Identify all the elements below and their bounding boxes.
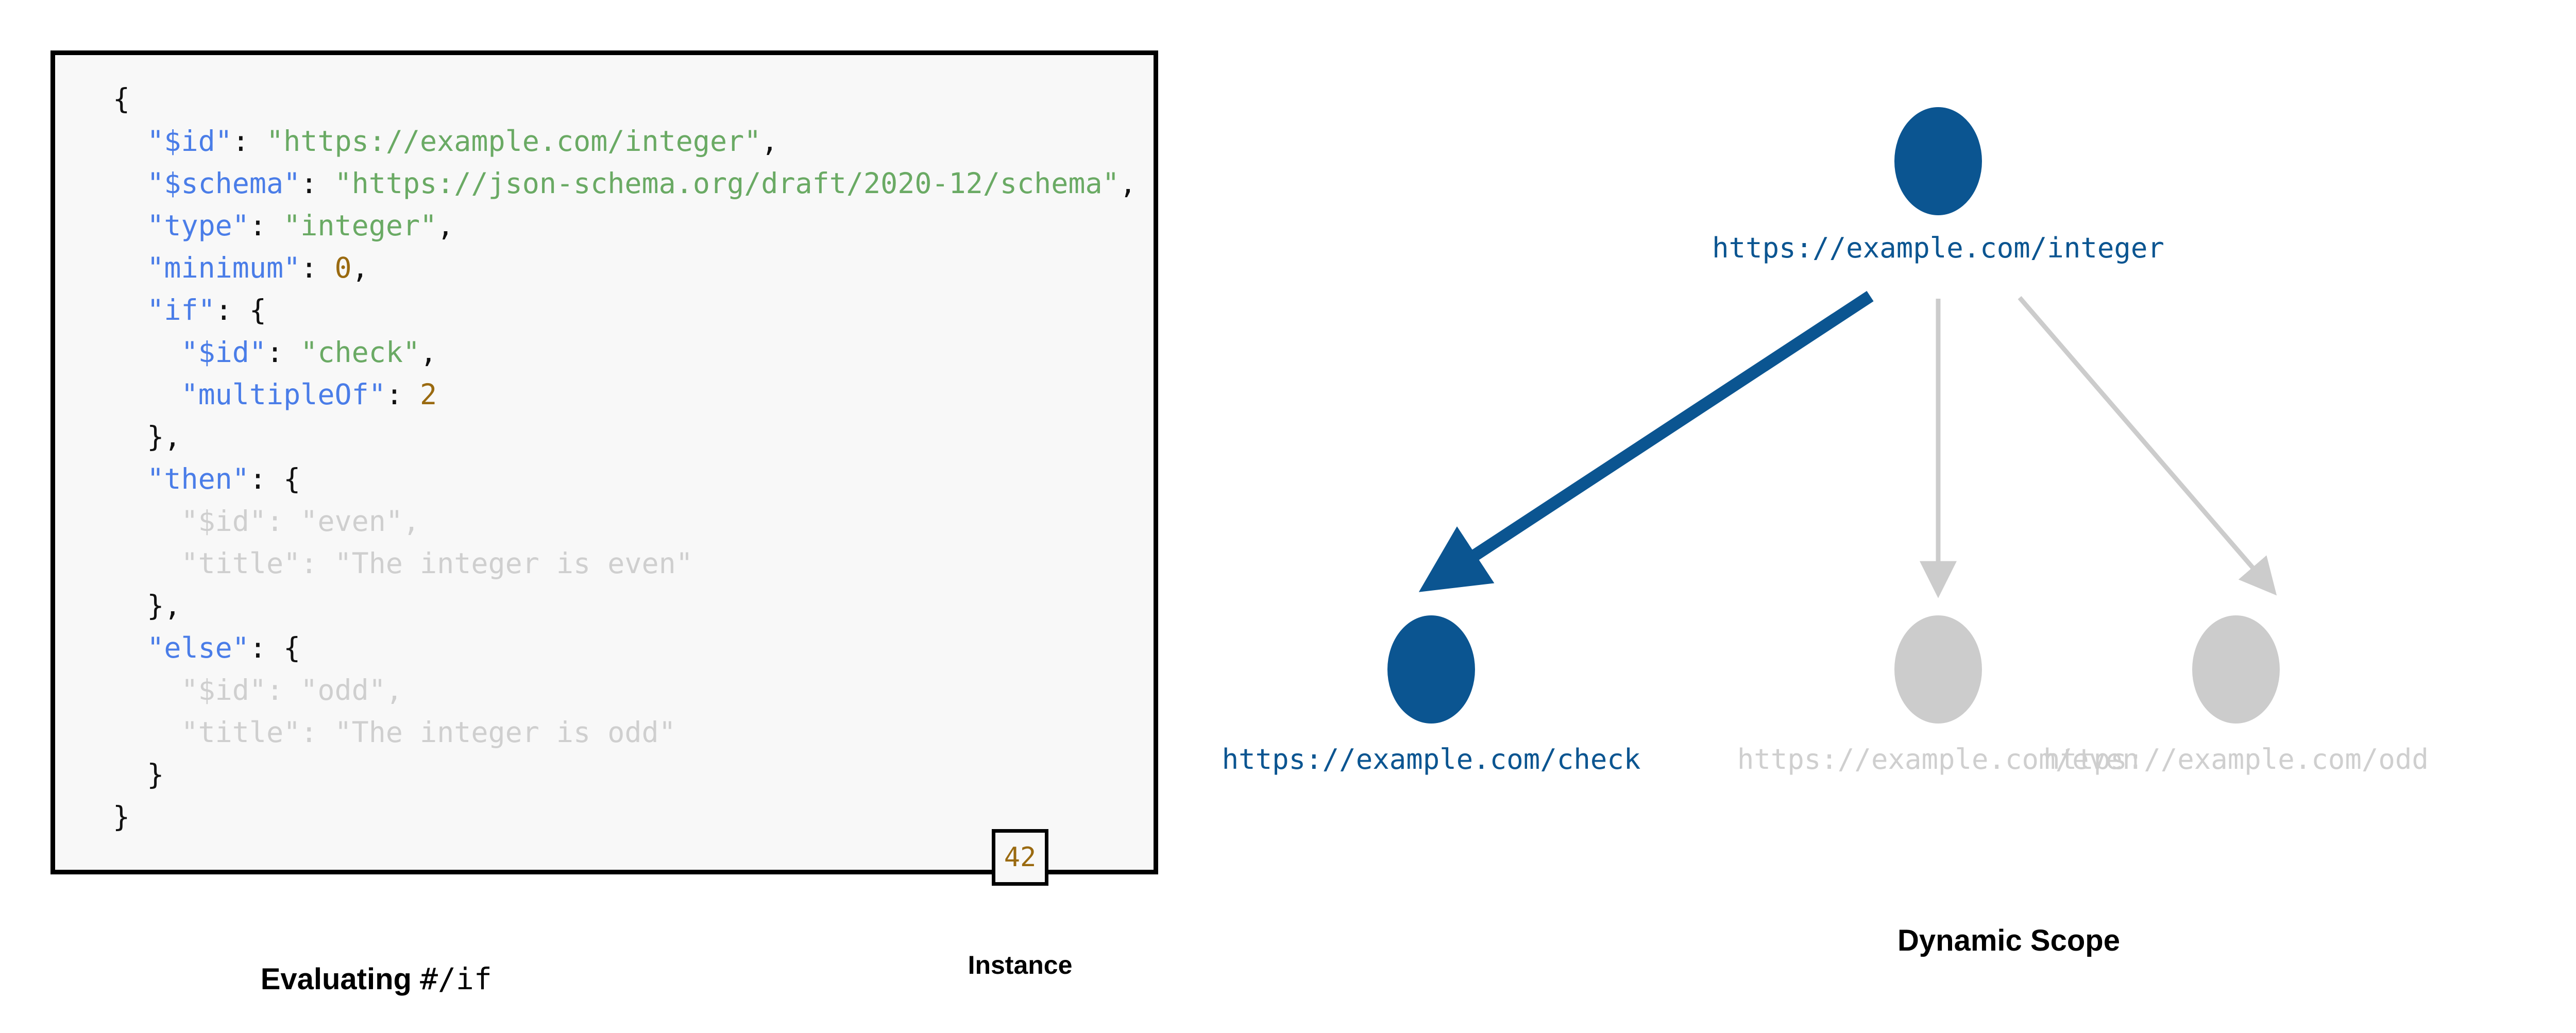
instance-value: 42 <box>1004 842 1037 873</box>
scope-nodes <box>1387 107 2280 724</box>
code-line: "title": "The integer is odd" <box>113 716 676 749</box>
code-token: "title": "The integer is even" <box>181 547 692 580</box>
node-odd[interactable] <box>2192 615 2280 724</box>
node-even[interactable] <box>1894 615 1982 724</box>
code-token: }, <box>147 589 181 622</box>
code-line: "type": "integer", <box>113 209 454 242</box>
code-token: , <box>437 209 454 242</box>
code-token: , <box>1120 167 1137 200</box>
node-label-odd: https://example.com/odd <box>2043 743 2429 776</box>
code-token: "$id" <box>181 336 266 369</box>
code-token: "$id": "odd", <box>181 674 402 707</box>
code-token: , <box>761 125 778 158</box>
code-line: } <box>113 800 130 833</box>
code-line: "title": "The integer is even" <box>113 547 693 580</box>
code-token: : { <box>249 631 300 664</box>
code-token: "if" <box>147 294 215 326</box>
scope-edges <box>1436 296 2269 587</box>
code-token: "$id" <box>147 125 232 158</box>
code-line: "$id": "https://example.com/integer", <box>113 125 778 158</box>
code-line: "if": { <box>113 294 266 326</box>
code-token: , <box>352 251 369 284</box>
code-token: : <box>232 125 266 158</box>
code-line: } <box>113 758 164 791</box>
code-token: : <box>300 251 334 284</box>
dynamic-scope-graph: https://example.com/integer https://exam… <box>1185 0 2576 1033</box>
code-token: : <box>266 336 300 369</box>
code-line: "$id": "check", <box>113 336 437 369</box>
code-token: "multipleOf" <box>181 378 385 411</box>
code-token: "title": "The integer is odd" <box>181 716 675 749</box>
evaluating-caption-pointer: #/if <box>420 961 492 996</box>
code-token: "https://json-schema.org/draft/2020-12/s… <box>334 167 1119 200</box>
evaluating-panel: { "$id": "https://example.com/integer", … <box>0 0 1185 1033</box>
code-token: "integer" <box>283 209 437 242</box>
code-token: : { <box>215 294 266 326</box>
dynamic-scope-caption: Dynamic Scope <box>1185 923 2576 958</box>
instance-box: 42 <box>992 829 1048 886</box>
evaluating-caption: Evaluating #/if <box>50 927 669 1031</box>
node-label-check: https://example.com/check <box>1222 743 1641 776</box>
schema-code-box: { "$id": "https://example.com/integer", … <box>50 50 1158 874</box>
schema-code: { "$id": "https://example.com/integer", … <box>113 78 1137 838</box>
code-line: "multipleOf": 2 <box>113 378 437 411</box>
code-token: "check" <box>300 336 420 369</box>
node-check[interactable] <box>1387 615 1475 724</box>
code-line: "then": { <box>113 462 300 495</box>
code-token: "then" <box>147 462 249 495</box>
edge-integer-to-check <box>1436 296 1870 581</box>
edge-integer-to-odd <box>2020 298 2269 587</box>
code-token: "$schema" <box>147 167 300 200</box>
code-line: { <box>113 82 130 115</box>
code-line: "$id": "odd", <box>113 674 403 707</box>
code-token: : <box>386 378 420 411</box>
code-line: "$id": "even", <box>113 505 420 538</box>
code-line: }, <box>113 589 181 622</box>
code-token: : { <box>249 462 300 495</box>
code-token: "https://example.com/integer" <box>266 125 761 158</box>
code-token: { <box>113 82 130 115</box>
node-integer[interactable] <box>1894 107 1982 215</box>
code-token: }, <box>147 420 181 453</box>
code-line: "minimum": 0, <box>113 251 369 284</box>
code-token: : <box>249 209 283 242</box>
code-token: } <box>147 758 164 791</box>
code-token: } <box>113 800 130 833</box>
code-line: "$schema": "https://json-schema.org/draf… <box>113 167 1137 200</box>
evaluating-caption-prefix: Evaluating <box>261 962 420 996</box>
code-token: "$id": "even", <box>181 505 420 538</box>
code-line: }, <box>113 420 181 453</box>
code-token: , <box>420 336 437 369</box>
code-token: "else" <box>147 631 249 664</box>
code-token: "type" <box>147 209 249 242</box>
code-token: "minimum" <box>147 251 300 284</box>
code-token: 0 <box>334 251 351 284</box>
code-token: : <box>300 167 334 200</box>
code-line: "else": { <box>113 631 300 664</box>
code-token: 2 <box>420 378 437 411</box>
node-label-integer: https://example.com/integer <box>1712 232 2164 264</box>
dynamic-scope-panel: https://example.com/integer https://exam… <box>1185 0 2576 1033</box>
instance-caption: Instance <box>943 950 1097 980</box>
